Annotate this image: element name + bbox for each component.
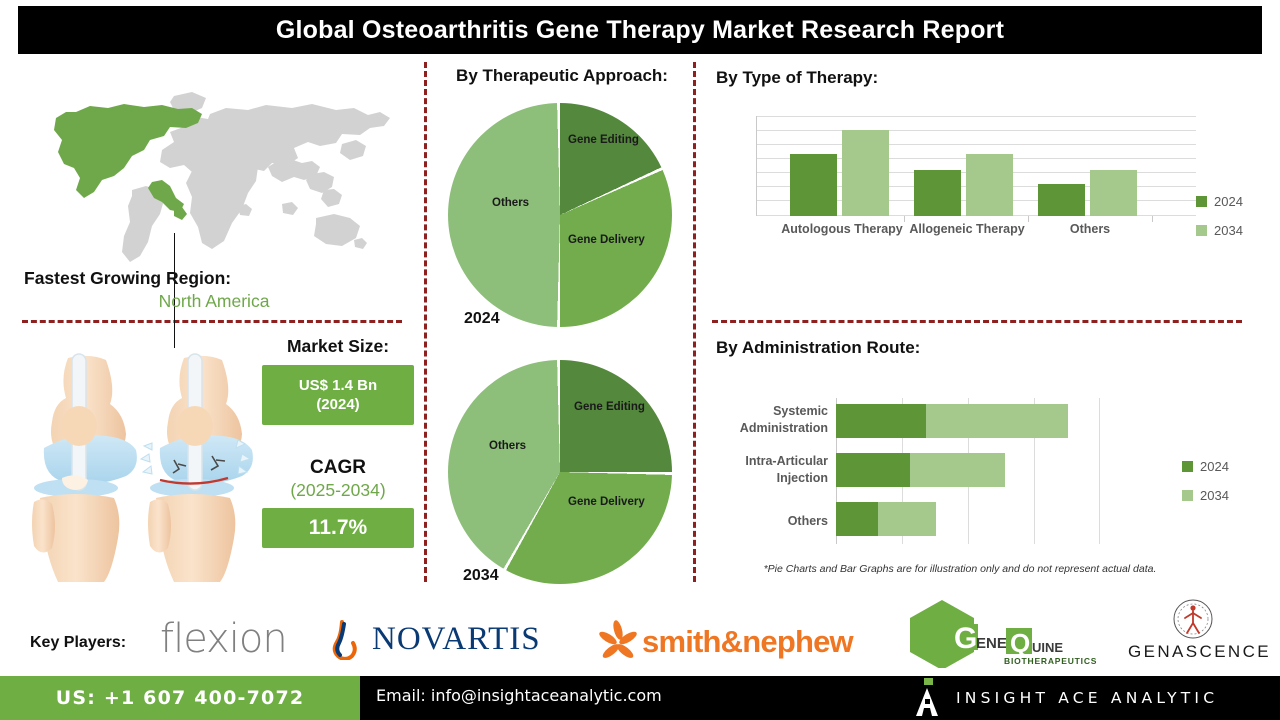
- bar-allogeneic-2024: [914, 170, 961, 216]
- bar-autologous-2034: [842, 130, 889, 216]
- svg-text:Q: Q: [1010, 628, 1030, 658]
- x-axis-tick: [1152, 216, 1153, 222]
- world-map-icon: [24, 78, 400, 268]
- cagr-title: CAGR: [262, 457, 414, 479]
- legend-administration-route: 2024 2034: [1182, 459, 1229, 517]
- market-size-year: (2024): [268, 395, 408, 414]
- hbar-label-systemic-text: Systemic Administration: [740, 404, 828, 435]
- pie-2034-year: 2034: [463, 567, 499, 585]
- logo-novartis-text: NOVARTIS: [372, 621, 541, 658]
- legend-label-2034: 2034: [1200, 488, 1229, 503]
- hbar-others-2034: [878, 502, 936, 536]
- pie-2024-label-gene-delivery: Gene Delivery: [568, 234, 645, 246]
- hbar-label-systemic: Systemic Administration: [700, 403, 828, 437]
- logo-smith-and-nephew: smith&nephew: [596, 620, 853, 664]
- footer-email: Email: info@insightaceanalytic.com: [376, 686, 662, 705]
- legend-item-2024: 2024: [1182, 459, 1229, 474]
- logo-genequine: G ENE Q UINE BIOTHERAPEUTICS: [900, 598, 1100, 668]
- hbar-systemic: [836, 404, 1100, 438]
- hbar-label-others-text: Others: [788, 514, 828, 528]
- novartis-mark-icon: [330, 618, 364, 660]
- legend-label-2034: 2034: [1214, 223, 1243, 238]
- hbar-systemic-2034: [926, 404, 1069, 438]
- footer-phone-chip: US: +1 607 400-7072: [0, 676, 360, 720]
- footer-phone: US: +1 607 400-7072: [56, 687, 305, 709]
- hbar-systemic-2024: [836, 404, 926, 438]
- y-axis-line: [756, 116, 757, 216]
- hbar-intra-articular: [836, 453, 1100, 487]
- bar-group-autologous: [780, 116, 904, 216]
- type-of-therapy-chart: Autologous Therapy Allogeneic Therapy Ot…: [756, 116, 1196, 216]
- pie-2024-label-gene-editing: Gene Editing: [568, 134, 639, 146]
- bar-others-2024: [1038, 184, 1085, 216]
- pie-2034-label-gene-editing: Gene Editing: [574, 401, 645, 413]
- divider-vertical-left: [424, 62, 427, 582]
- knee-joint-illustration: [22, 352, 258, 584]
- pie-chart-2034: [448, 360, 672, 584]
- divider-vertical-right: [693, 62, 696, 582]
- hbar-label-others: Others: [700, 513, 828, 530]
- region-value: North America: [24, 291, 400, 312]
- region-label: Fastest Growing Region:: [24, 268, 400, 289]
- therapeutic-approach-title: By Therapeutic Approach:: [434, 66, 690, 86]
- legend-swatch-2024: [1182, 461, 1193, 472]
- type-of-therapy-title: By Type of Therapy:: [716, 68, 878, 88]
- logo-genascence: GENASCENCE: [1128, 598, 1258, 664]
- hbar-intra-articular-2024: [836, 453, 910, 487]
- market-stats-block: Market Size: US$ 1.4 Bn (2024) CAGR (202…: [262, 336, 414, 548]
- administration-route-title: By Administration Route:: [716, 338, 920, 358]
- divider-horizontal-left: [22, 320, 402, 323]
- market-size-value: US$ 1.4 Bn: [268, 376, 408, 395]
- legend-item-2034: 2034: [1196, 223, 1243, 238]
- footer-brand-text: INSIGHT ACE ANALYTIC: [956, 689, 1218, 707]
- key-players-label: Key Players:: [30, 634, 126, 652]
- divider-horizontal-right: [712, 320, 1242, 323]
- bar-label-allogeneic: Allogeneic Therapy: [894, 222, 1040, 236]
- pie-2034-label-others: Others: [489, 440, 526, 452]
- pie-2024-label-others: Others: [492, 197, 529, 209]
- fastest-growing-region-block: Fastest Growing Region: North America: [24, 268, 400, 312]
- legend-swatch-2034: [1182, 490, 1193, 501]
- administration-route-chart: [836, 398, 1100, 544]
- cagr-range: (2025-2034): [262, 480, 414, 501]
- bar-autologous-2024: [790, 154, 837, 216]
- legend-swatch-2024: [1196, 196, 1207, 207]
- svg-text:BIOTHERAPEUTICS: BIOTHERAPEUTICS: [1004, 656, 1097, 666]
- bar-group-allogeneic: [904, 116, 1028, 216]
- logo-smith-nephew-text: smith&nephew: [642, 624, 853, 660]
- smith-nephew-star-icon: [596, 620, 640, 664]
- bar-allogeneic-2034: [966, 154, 1013, 216]
- market-size-title: Market Size:: [262, 336, 414, 357]
- infographic-page: Global Osteoarthritis Gene Therapy Marke…: [0, 0, 1280, 720]
- hbar-others-2024: [836, 502, 878, 536]
- logo-flexion-text: flexion: [160, 616, 287, 662]
- header-bar: Global Osteoarthritis Gene Therapy Marke…: [18, 6, 1262, 54]
- cagr-value-box: 11.7%: [262, 508, 414, 548]
- legend-label-2024: 2024: [1200, 459, 1229, 474]
- legend-swatch-2034: [1196, 225, 1207, 236]
- hbar-intra-articular-2034: [910, 453, 1005, 487]
- legend-item-2024: 2024: [1196, 194, 1243, 209]
- legend-item-2034: 2034: [1182, 488, 1229, 503]
- bar-others-2034: [1090, 170, 1137, 216]
- insight-ace-logo-icon: [912, 678, 942, 718]
- genequine-hexagon-icon: G ENE Q UINE BIOTHERAPEUTICS: [900, 598, 1100, 668]
- world-map: [24, 78, 400, 268]
- logo-genascence-text: GENASCENCE: [1128, 642, 1271, 661]
- logo-flexion: flexion: [160, 614, 310, 664]
- chart-disclaimer: *Pie Charts and Bar Graphs are for illus…: [730, 563, 1190, 575]
- bar-label-others: Others: [1028, 222, 1152, 236]
- hbar-label-intra-articular-text: Intra-Articular Injection: [745, 454, 828, 485]
- market-size-value-box: US$ 1.4 Bn (2024): [262, 365, 414, 425]
- bar-group-others: [1028, 116, 1152, 216]
- svg-text:UINE: UINE: [1032, 640, 1063, 655]
- pie-2024-year: 2024: [464, 310, 500, 328]
- legend-label-2024: 2024: [1214, 194, 1243, 209]
- svg-text:G: G: [954, 622, 977, 655]
- hbar-others: [836, 502, 1100, 536]
- page-title: Global Osteoarthritis Gene Therapy Marke…: [276, 16, 1004, 45]
- footer-brand: INSIGHT ACE ANALYTIC: [912, 678, 1218, 718]
- pie-2034-label-gene-delivery: Gene Delivery: [568, 496, 645, 508]
- svg-text:ENE: ENE: [976, 635, 1007, 652]
- genascence-mark-icon: [1166, 598, 1220, 642]
- legend-type-of-therapy: 2024 2034: [1196, 194, 1243, 252]
- knee-joint-osteoarthritis-icon: [22, 352, 258, 584]
- logo-novartis: NOVARTIS: [330, 618, 541, 660]
- hbar-label-intra-articular: Intra-Articular Injection: [700, 453, 828, 487]
